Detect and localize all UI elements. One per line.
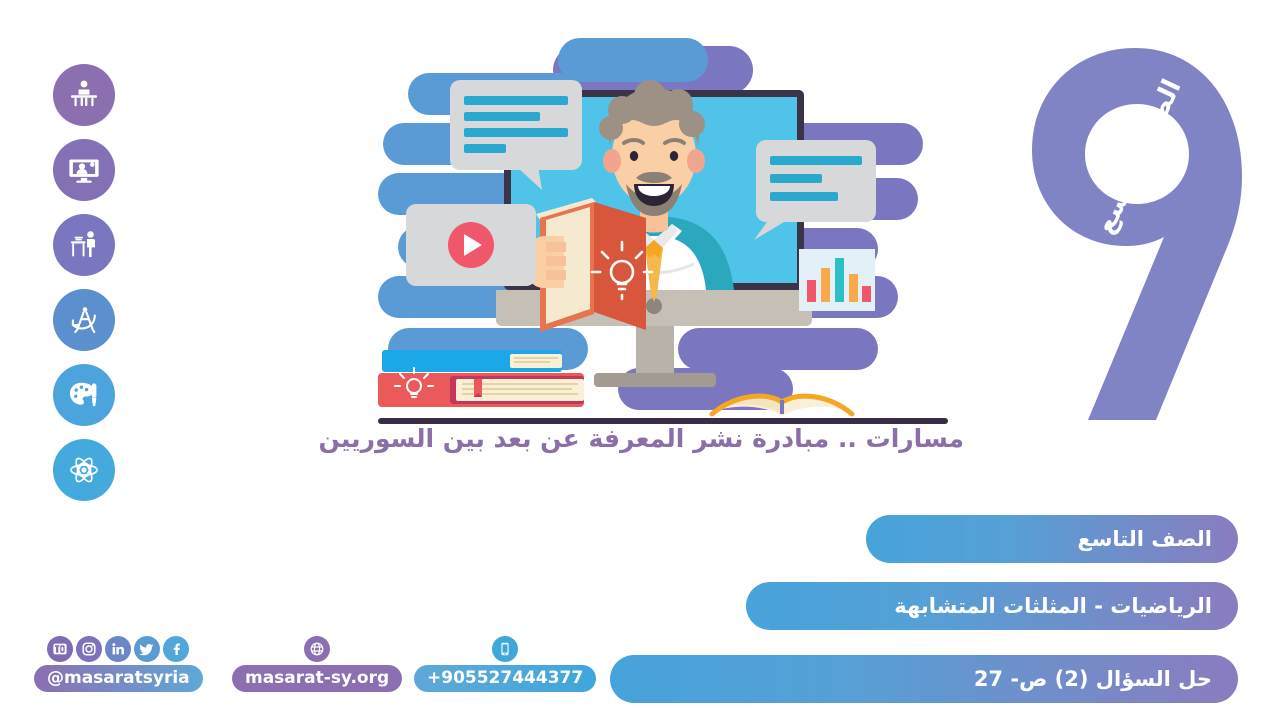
sidebar-item-art[interactable]: [53, 364, 115, 426]
phone-contact-group: +905527444377: [414, 636, 596, 692]
phone-number-pill[interactable]: +905527444377: [414, 665, 596, 692]
linkedin-icon[interactable]: [105, 636, 131, 662]
nine-glyph-shape: [1010, 40, 1260, 430]
compass-drafting-icon: [66, 302, 102, 338]
phone-icon-row: [414, 636, 596, 662]
online-lesson-monitor-icon: [66, 152, 102, 188]
social-icon-row: [34, 636, 203, 662]
instagram-icon[interactable]: [76, 636, 102, 662]
website-icon-row: [232, 636, 402, 662]
facebook-icon[interactable]: [163, 636, 189, 662]
lesson-subject-bar[interactable]: الرياضيات - المثلثات المتشابهة: [746, 582, 1238, 630]
grade-number-badge: الصف التاسع: [1010, 40, 1260, 430]
phone-number-text: +905527444377: [427, 670, 583, 687]
student-at-desk-icon: [66, 227, 102, 263]
contact-strip: @masaratsyria masarat-sy.org: [0, 636, 620, 706]
teacher-at-lectern-icon: [66, 77, 102, 113]
atom-science-icon: [66, 452, 102, 488]
youtube-icon[interactable]: [47, 636, 73, 662]
online-teacher-illustration: [378, 28, 978, 428]
sidebar-item-student-at-desk[interactable]: [53, 214, 115, 276]
social-contact-group: @masaratsyria: [34, 636, 203, 692]
lesson-grade-bar[interactable]: الصف التاسع: [866, 515, 1238, 563]
twitter-icon[interactable]: [134, 636, 160, 662]
globe-icon[interactable]: [304, 636, 330, 662]
subject-icon-rail: [53, 64, 115, 501]
mobile-phone-icon[interactable]: [492, 636, 518, 662]
sidebar-item-teacher-at-lectern[interactable]: [53, 64, 115, 126]
lesson-subject-text: الرياضيات - المثلثات المتشابهة: [894, 596, 1212, 617]
lesson-title-text: حل السؤال (2) ص- 27: [974, 669, 1212, 690]
website-contact-group: masarat-sy.org: [232, 636, 402, 692]
lesson-title-bar[interactable]: حل السؤال (2) ص- 27: [610, 655, 1238, 703]
website-url-pill[interactable]: masarat-sy.org: [232, 665, 402, 692]
brand-tagline: مسارات .. مبادرة نشر المعرفة عن بعد بين …: [350, 424, 964, 453]
lesson-grade-text: الصف التاسع: [1077, 529, 1212, 550]
art-palette-brush-icon: [66, 377, 102, 413]
sidebar-item-geometry-compass[interactable]: [53, 289, 115, 351]
sidebar-item-online-lesson[interactable]: [53, 139, 115, 201]
website-url-text: masarat-sy.org: [245, 670, 389, 687]
social-handle-text: @masaratsyria: [47, 670, 190, 687]
social-handle-pill[interactable]: @masaratsyria: [34, 665, 203, 692]
sidebar-item-science[interactable]: [53, 439, 115, 501]
